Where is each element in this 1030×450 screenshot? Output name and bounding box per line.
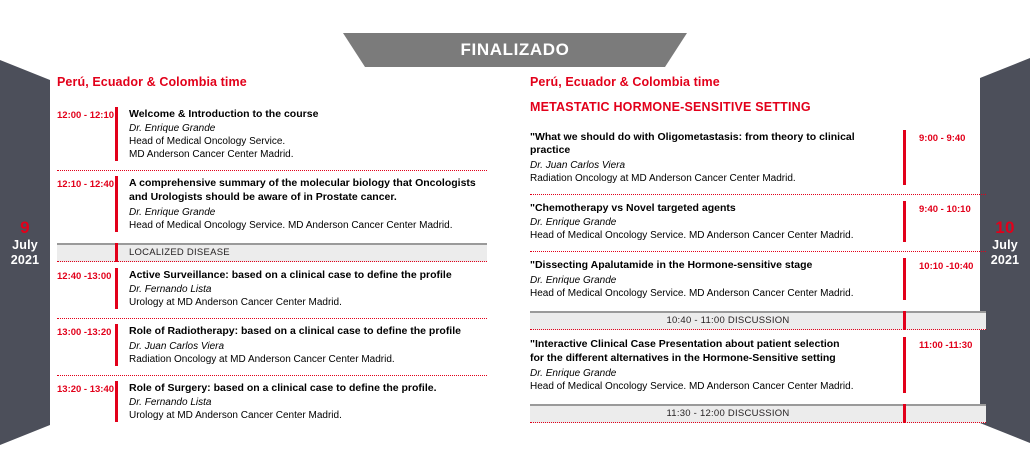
talk-title: Role of Radiotherapy: based on a clinica… xyxy=(129,325,487,338)
agenda-row: "Dissecting Apalutamide in the Hormone-s… xyxy=(530,251,986,308)
row-content: "What we should do with Oligometastasis:… xyxy=(530,130,903,185)
speaker-name: Dr. Fernando Lista xyxy=(129,396,487,409)
speaker-name: Dr. Enrique Grande xyxy=(129,122,487,135)
date-year-left: 2021 xyxy=(0,253,50,268)
speaker-affiliation: Urology at MD Anderson Cancer Center Mad… xyxy=(129,296,487,309)
status-banner: FINALIZADO xyxy=(343,33,687,67)
agenda-column-day-1: Perú, Ecuador & Colombia time 12:00 - 12… xyxy=(57,76,487,431)
date-day-left: 9 xyxy=(0,218,50,238)
row-time: 10:10 -10:40 xyxy=(906,258,986,299)
talk-title: and Urologists should be aware of in Pro… xyxy=(129,191,487,204)
section-bar-label: LOCALIZED DISEASE xyxy=(57,248,230,258)
row-time: 12:00 - 12:10 xyxy=(57,107,115,161)
speaker-name: Dr. Juan Carlos Viera xyxy=(129,340,487,353)
speaker-name: Dr. Juan Carlos Viera xyxy=(530,159,893,172)
date-year-right: 2021 xyxy=(980,253,1030,268)
row-content: Role of Radiotherapy: based on a clinica… xyxy=(129,324,487,365)
speaker-affiliation: Radiation Oncology at MD Anderson Cancer… xyxy=(129,353,487,366)
row-divider-rule xyxy=(115,324,118,365)
row-time: 13:20 - 13:40 xyxy=(57,381,115,422)
speaker-affiliation: Head of Medical Oncology Service. MD And… xyxy=(129,219,487,232)
agenda-row: "What we should do with Oligometastasis:… xyxy=(530,123,986,194)
discussion-bar-rule xyxy=(903,311,906,330)
speaker-name: Dr. Enrique Grande xyxy=(530,216,893,229)
agenda-poster: 9 July 2021 10 July 2021 FINALIZADO Perú… xyxy=(0,0,1030,450)
row-time: 12:10 - 12:40 xyxy=(57,176,115,232)
talk-title: "Interactive Clinical Case Presentation … xyxy=(530,338,893,351)
section-bar-localized-disease: LOCALIZED DISEASE xyxy=(57,243,487,262)
speaker-name: Dr. Enrique Grande xyxy=(530,274,893,287)
row-content: Role of Surgery: based on a clinical cas… xyxy=(129,381,487,422)
talk-title: Role of Surgery: based on a clinical cas… xyxy=(129,382,487,395)
discussion-bar-rule xyxy=(903,404,906,423)
speaker-affiliation: Radiation Oncology at MD Anderson Cancer… xyxy=(530,172,893,185)
speaker-name: Dr. Enrique Grande xyxy=(129,206,487,219)
agenda-row: "Interactive Clinical Case Presentation … xyxy=(530,330,986,402)
agenda-row: 12:00 - 12:10 Welcome & Introduction to … xyxy=(57,101,487,170)
row-content: "Interactive Clinical Case Presentation … xyxy=(530,337,903,393)
agenda-row: "Chemotherapy vs Novel targeted agents D… xyxy=(530,194,986,251)
column-title-right: Perú, Ecuador & Colombia time xyxy=(530,76,986,89)
section-title-metastatic: METASTATIC HORMONE-SENSITIVE SETTING xyxy=(530,101,986,114)
talk-title: "What we should do with Oligometastasis:… xyxy=(530,131,893,158)
row-time: 13:00 -13:20 xyxy=(57,324,115,365)
speaker-affiliation: Head of Medical Oncology Service. MD And… xyxy=(530,287,893,300)
agenda-column-day-2: Perú, Ecuador & Colombia time METASTATIC… xyxy=(530,76,986,423)
agenda-row: 12:10 - 12:40 A comprehensive summary of… xyxy=(57,170,487,241)
speaker-affiliation: Head of Medical Oncology Service. MD And… xyxy=(530,380,893,393)
speaker-affiliation: Head of Medical Oncology Service. xyxy=(129,135,487,148)
discussion-bar: 10:40 - 11:00 DISCUSSION xyxy=(530,311,986,330)
speaker-affiliation: Head of Medical Oncology Service. MD And… xyxy=(530,229,893,242)
date-block-right: 10 July 2021 xyxy=(980,218,1030,268)
talk-title: Welcome & Introduction to the course xyxy=(129,108,487,121)
row-time: 11:00 -11:30 xyxy=(906,337,986,393)
speaker-name: Dr. Enrique Grande xyxy=(530,367,893,380)
speaker-name: Dr. Fernando Lista xyxy=(129,283,487,296)
row-time: 9:40 - 10:10 xyxy=(906,201,986,242)
agenda-row: 12:40 -13:00 Active Surveillance: based … xyxy=(57,262,487,318)
talk-title: "Dissecting Apalutamide in the Hormone-s… xyxy=(530,259,893,272)
row-divider-rule xyxy=(115,268,118,309)
talk-title: A comprehensive summary of the molecular… xyxy=(129,177,487,190)
speaker-affiliation: Urology at MD Anderson Cancer Center Mad… xyxy=(129,409,487,422)
speaker-affiliation: MD Anderson Cancer Center Madrid. xyxy=(129,148,487,161)
row-time: 9:00 - 9:40 xyxy=(906,130,986,185)
row-content: A comprehensive summary of the molecular… xyxy=(129,176,487,232)
discussion-bar-label: 10:40 - 11:00 DISCUSSION xyxy=(530,316,986,326)
discussion-bar: 11:30 - 12:00 DISCUSSION xyxy=(530,404,986,423)
date-month-right: July xyxy=(980,238,1030,253)
section-bar-rule xyxy=(115,243,118,262)
talk-title: "Chemotherapy vs Novel targeted agents xyxy=(530,202,893,215)
row-time: 12:40 -13:00 xyxy=(57,268,115,309)
agenda-row: 13:00 -13:20 Role of Radiotherapy: based… xyxy=(57,318,487,374)
talk-title: Active Surveillance: based on a clinical… xyxy=(129,269,487,282)
row-content: "Chemotherapy vs Novel targeted agents D… xyxy=(530,201,903,242)
row-divider-rule xyxy=(115,107,118,161)
agenda-rows-left: 12:00 - 12:10 Welcome & Introduction to … xyxy=(57,101,487,432)
date-month-left: July xyxy=(0,238,50,253)
row-divider-rule xyxy=(115,381,118,422)
date-day-right: 10 xyxy=(980,218,1030,238)
row-content: Active Surveillance: based on a clinical… xyxy=(129,268,487,309)
talk-title: for the different alternatives in the Ho… xyxy=(530,352,893,365)
row-content: "Dissecting Apalutamide in the Hormone-s… xyxy=(530,258,903,299)
agenda-row: 13:20 - 13:40 Role of Surgery: based on … xyxy=(57,375,487,431)
date-block-left: 9 July 2021 xyxy=(0,218,50,268)
discussion-bar-label: 11:30 - 12:00 DISCUSSION xyxy=(530,409,986,419)
row-content: Welcome & Introduction to the course Dr.… xyxy=(129,107,487,161)
agenda-rows-right: "What we should do with Oligometastasis:… xyxy=(530,123,986,423)
row-divider-rule xyxy=(115,176,118,232)
column-title-left: Perú, Ecuador & Colombia time xyxy=(57,76,487,89)
